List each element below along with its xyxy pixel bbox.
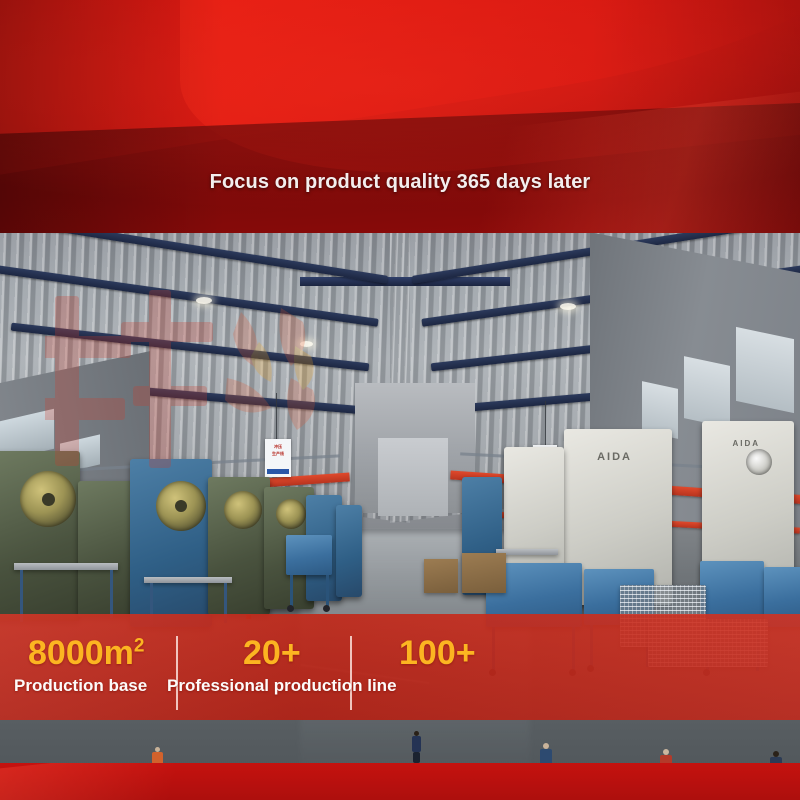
stat-number-models: 100+ bbox=[399, 636, 476, 670]
worker-legs bbox=[413, 752, 420, 763]
stat-divider bbox=[350, 636, 352, 710]
banner-headline: Focus on product quality 365 days later bbox=[0, 171, 800, 194]
stat-divider bbox=[176, 636, 178, 710]
machine-brand-label: AIDA bbox=[597, 451, 632, 463]
work-table bbox=[144, 577, 232, 583]
top-red-banner: Focus on product quality 365 days later bbox=[0, 0, 800, 233]
banner-vignette bbox=[0, 0, 800, 233]
machine-flywheel bbox=[276, 499, 306, 529]
stat-number-lines: 20+ bbox=[243, 636, 301, 670]
flywheel-hub bbox=[175, 500, 187, 512]
cart-leg bbox=[326, 575, 329, 607]
flywheel-hub bbox=[42, 493, 55, 506]
footer-red-band bbox=[0, 763, 800, 800]
machine-gauge bbox=[746, 449, 772, 475]
table-leg bbox=[110, 570, 113, 618]
cart-caster bbox=[287, 605, 294, 612]
wooden-crate bbox=[462, 553, 506, 593]
ceiling-lamp bbox=[196, 297, 212, 304]
far-hall-vanishing bbox=[378, 438, 448, 516]
stat-label-production-base: Production base bbox=[14, 676, 147, 696]
stat-value-area: 8000m2 bbox=[28, 636, 144, 670]
ceiling-lamp bbox=[560, 303, 576, 310]
cart-caster bbox=[323, 605, 330, 612]
stat-superscript: 2 bbox=[134, 636, 145, 657]
sign-footer-bar bbox=[267, 469, 289, 474]
footer-glint bbox=[0, 763, 262, 800]
stats-band: 8000m2 20+ 100+ Production base Professi… bbox=[0, 614, 800, 720]
sign-text: 冲压 bbox=[265, 444, 291, 450]
window bbox=[684, 356, 730, 428]
sign-wire bbox=[276, 393, 277, 439]
punch-press-machine bbox=[336, 505, 362, 597]
stat-label-production-line: Professional production line bbox=[167, 676, 397, 696]
blue-cart bbox=[286, 535, 332, 575]
promo-banner-image: Focus on product quality 365 days later bbox=[0, 0, 800, 800]
sign-wire bbox=[545, 401, 546, 445]
stat-number: 8000m bbox=[28, 634, 134, 672]
wooden-crate bbox=[424, 559, 458, 593]
roof-apex-beam bbox=[300, 277, 510, 286]
machine-flywheel bbox=[224, 491, 262, 529]
worker-body bbox=[412, 736, 421, 752]
ceiling-lamp bbox=[300, 341, 313, 347]
machine-brand-label: AIDA bbox=[732, 439, 760, 448]
window bbox=[736, 327, 794, 413]
hanging-sign: 冲压 生产线 bbox=[265, 439, 291, 477]
cart-leg bbox=[290, 575, 293, 607]
work-table bbox=[14, 563, 118, 570]
sign-text: 生产线 bbox=[265, 451, 291, 457]
